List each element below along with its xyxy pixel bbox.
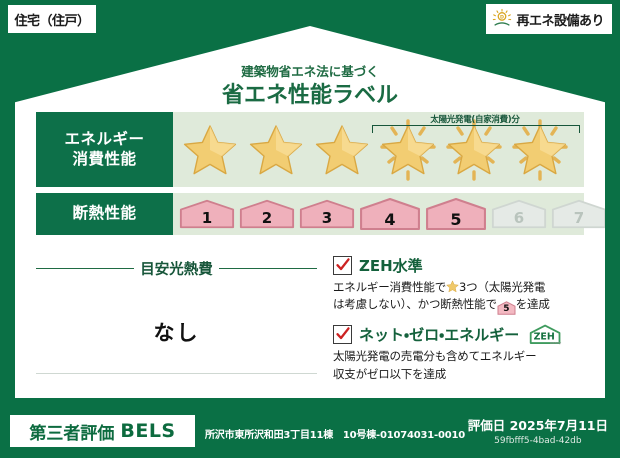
check-header: ZEH水準 [333,255,584,276]
bottom-section: 目安光熱費 なし ZEH水準 エネルギー消費性能で3つ（太陽光 [36,248,584,388]
inline-chip-value: 5 [503,304,509,314]
zeh-standard-checkbox [333,256,352,275]
zeh-standard-title: ZEH水準 [359,255,423,276]
insulation-performance-row: 断熱性能 1234567 [36,193,584,235]
utility-cost-value: なし [36,317,317,347]
utility-cost-heading-text: 目安光熱費 [140,258,213,279]
label-card: 建築物省エネ法に基づく 省エネ性能ラベル エネルギー 消費性能 太陽光発電(自家… [15,26,605,398]
star-plain [309,117,375,183]
bels-certification-tag: 第三者評価 BELS [10,415,195,447]
energy-label-root: 住宅（住戸） D 再エネ設備あり 建築 [0,0,620,458]
energy-performance-body: 太陽光発電(自家消費)分 [173,112,584,187]
sun-icon: D [491,8,513,30]
heading-rule-right [219,268,317,269]
title-subtitle: 建築物省エネ法に基づく [15,66,605,79]
page-title: 省エネ性能ラベル [15,82,605,110]
star-rating [173,112,584,187]
star-plain [243,117,309,183]
utility-cost-divider [36,373,317,374]
bels-en-label: BELS [120,420,175,442]
star-solar [507,117,573,183]
net-zero-description: 太陽光発電の売電分も含めてエネルギー 収支がゼロ以下を達成 [333,348,584,383]
title-block: 建築物省エネ法に基づく 省エネ性能ラベル [15,66,605,109]
insulation-chip-1: 1 [179,199,235,229]
insulation-chip-6: 6 [491,199,547,229]
insulation-grade-scale: 1234567 [173,193,584,235]
evaluation-date: 評価日 2025年7月11日 [468,415,608,434]
insulation-chip-value: 3 [322,209,332,227]
footer-bar: 第三者評価 BELS 所沢市東所沢和田3丁目11棟 10号棟-01074031-… [0,404,620,458]
evaluation-date-block: 評価日 2025年7月11日 59fbfff5-4bad-42db [468,415,608,446]
insulation-chip-value: 1 [202,209,212,227]
insulation-chip-5: 5 [425,197,487,231]
heading-rule-left [36,268,134,269]
certification-checks: ZEH水準 エネルギー消費性能で3つ（太陽光発電 は考慮しない）、かつ断熱性能で… [317,248,584,388]
bels-jp-label: 第三者評価 [29,419,114,444]
energy-performance-row: エネルギー 消費性能 太陽光発電(自家消費)分 [36,112,584,187]
star-plain [177,117,243,183]
net-zero-desc-part2: 収支がゼロ以下を達成 [333,367,446,381]
insulation-chip-4: 4 [359,197,421,231]
insulation-chip-7: 7 [551,199,607,229]
zeh-desc-starcount: 3つ（太陽光発電 [459,280,545,294]
insulation-chip-3: 3 [299,199,355,229]
net-zero-checkbox [333,325,352,344]
insulation-performance-label: 断熱性能 [36,193,173,235]
energy-label-line1: エネルギー [64,130,144,150]
insulation-chip-value: 6 [514,209,524,227]
svg-text:D: D [501,14,505,20]
insulation-chip-value: 7 [574,209,584,227]
star-solar [375,117,441,183]
net-zero-desc-part1: 太陽光発電の売電分も含めてエネルギー [333,349,536,363]
check-header: ネット・ゼロ・エネルギー ZEH nearly [333,324,584,345]
insulation-chip-value: 2 [262,209,272,227]
insulation-chip-value: 4 [384,210,395,229]
insulation-chip-2: 2 [239,199,295,229]
category-tag: 住宅（住戸） [8,5,96,33]
category-tag-label: 住宅（住戸） [14,10,89,29]
zeh-desc-part1: エネルギー消費性能で [333,280,446,294]
renewable-badge-label: 再エネ設備あり [516,10,604,29]
zeh-desc-part2: は考慮しない）、かつ断熱性能で [333,297,497,311]
star-solar [441,117,507,183]
insulation-label-text: 断熱性能 [72,204,136,224]
performance-rows: エネルギー 消費性能 太陽光発電(自家消費)分 断熱性能 1234567 [36,112,584,241]
renewable-equipment-badge: D 再エネ設備あり [486,4,612,34]
zeh-desc-part3: を達成 [516,297,550,311]
inline-grade-chip: 5 [497,301,516,315]
svg-text:nearly: nearly [550,341,562,345]
inline-star-icon [446,280,459,293]
net-zero-title: ネット・ゼロ・エネルギー [359,324,519,345]
insulation-chip-value: 5 [450,210,461,229]
utility-cost-heading: 目安光熱費 [36,258,317,279]
insulation-performance-body: 1234567 [173,193,584,235]
utility-cost-block: 目安光熱費 なし [36,248,317,388]
zeh-logo-icon: ZEH nearly [526,324,564,345]
energy-label-line2: 消費性能 [72,150,136,170]
energy-performance-label: エネルギー 消費性能 [36,112,173,187]
check-block-net-zero-energy: ネット・ゼロ・エネルギー ZEH nearly 太陽光発電の売電分も含めてエネル… [333,324,584,383]
property-address: 所沢市東所沢和田3丁目11棟 10号棟-01074031-0010 [205,426,465,441]
check-block-zeh-standard: ZEH水準 エネルギー消費性能で3つ（太陽光発電 は考慮しない）、かつ断熱性能で… [333,255,584,315]
zeh-standard-description: エネルギー消費性能で3つ（太陽光発電 は考慮しない）、かつ断熱性能で5を達成 [333,279,584,315]
label-hash-id: 59fbfff5-4bad-42db [468,436,608,446]
